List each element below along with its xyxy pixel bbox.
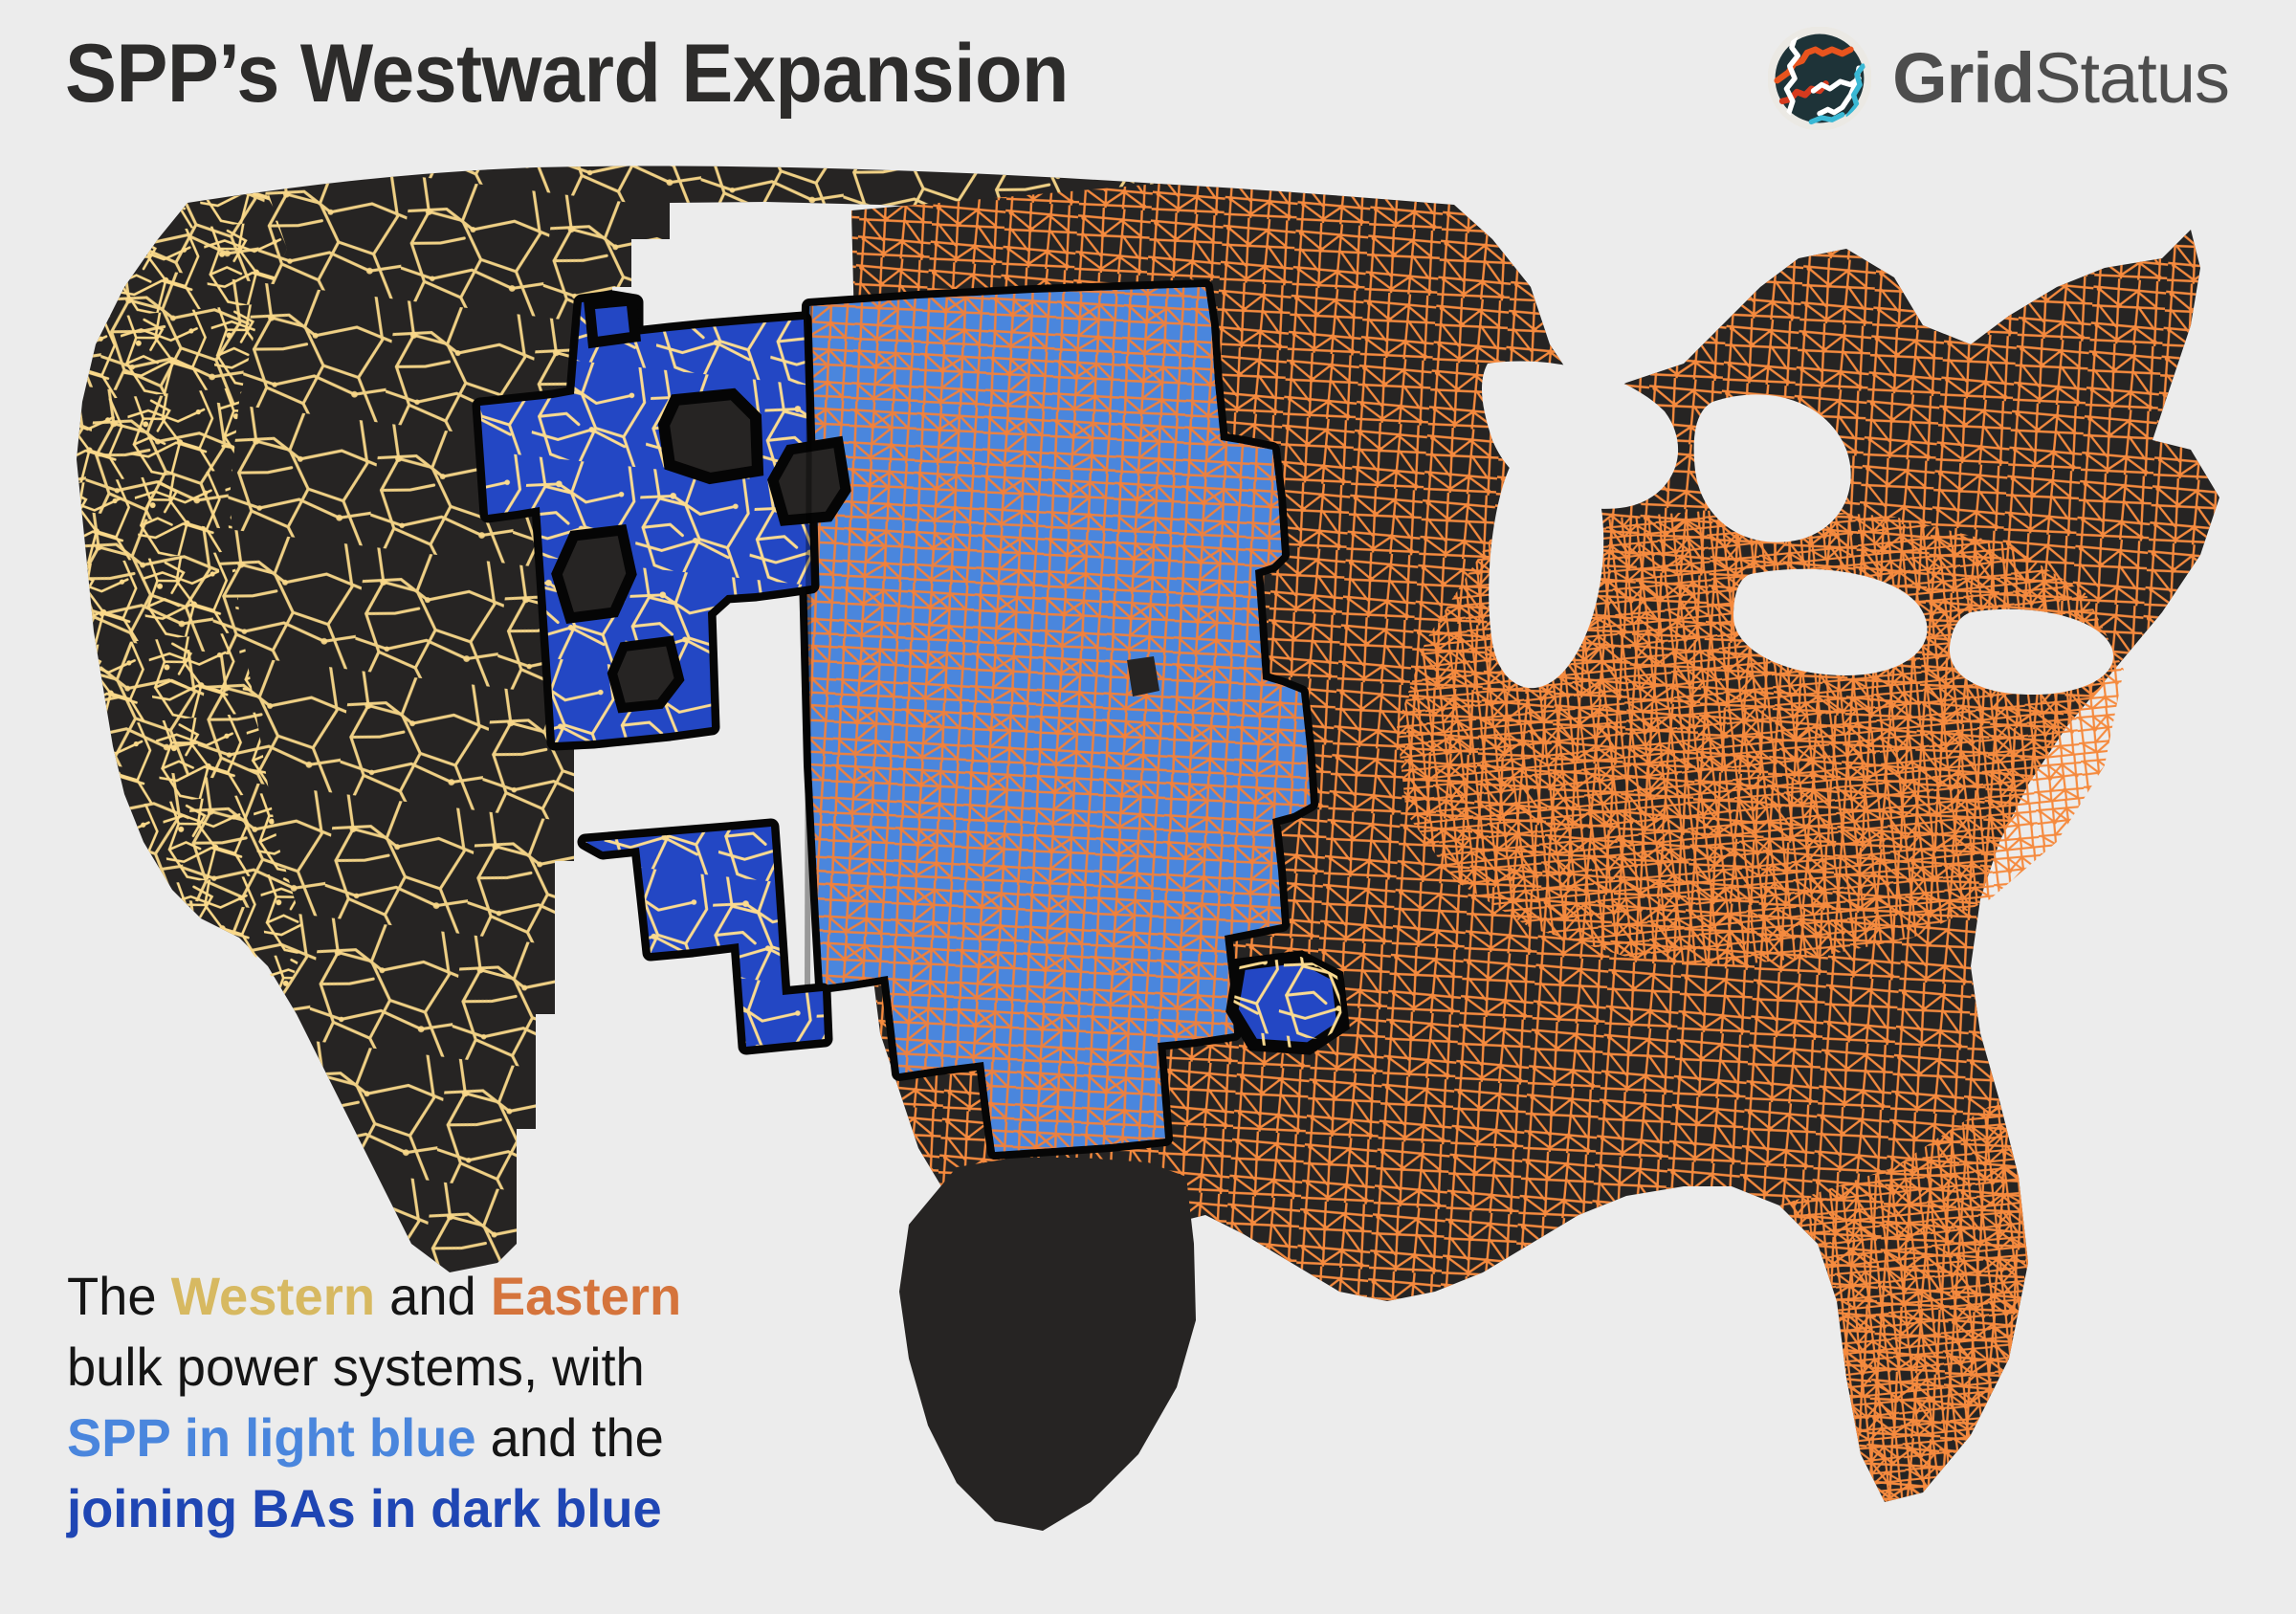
caption-line-1: The Western and Eastern [67,1261,772,1332]
caption-line-3: SPP in light blue and the [67,1403,772,1473]
legend-joining-bas-label: joining BAs in dark blue [67,1473,772,1544]
caption-and-the: and the [476,1407,664,1468]
legend-western-label: Western [171,1266,375,1326]
spp-interior-holes [1127,656,1159,696]
legend-spp-label: SPP in light blue [67,1407,476,1468]
caption-the: The [67,1266,171,1326]
caption-and: and [375,1266,491,1326]
map-legend-caption: The Western and Eastern bulk power syste… [67,1261,772,1544]
ercot-texas-region [899,1158,1196,1531]
brand-logo[interactable]: GridStatus [1768,27,2229,130]
brand-grid-text: Grid [1892,43,2034,114]
legend-eastern-label: Eastern [491,1266,681,1326]
brand-status-text: Status [2034,43,2229,114]
brand-wordmark: GridStatus [1892,43,2229,114]
interconnection-seam [807,306,809,985]
caption-line-2: bulk power systems, with [67,1332,772,1403]
grid-globe-icon [1768,27,1871,130]
page-title: SPP’s Westward Expansion [65,31,1069,117]
